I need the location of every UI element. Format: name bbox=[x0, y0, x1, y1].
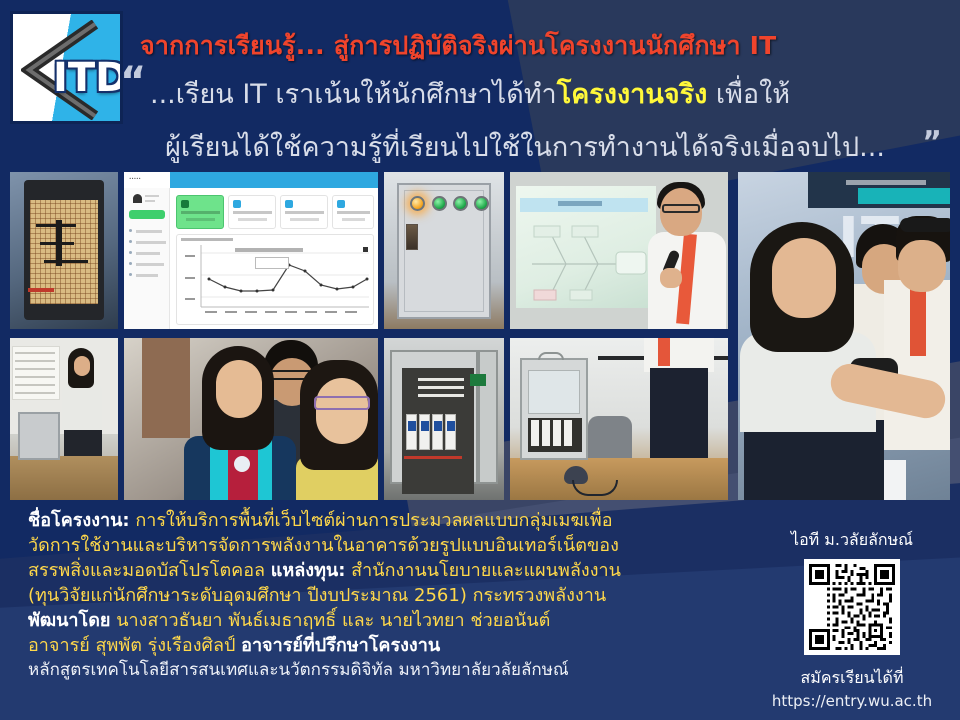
photo-cabinet-desk bbox=[510, 338, 728, 500]
caption-label-developers: พัฒนาโดย bbox=[28, 610, 110, 631]
quote-open-mark: “ bbox=[120, 62, 146, 102]
photo-presenter bbox=[510, 172, 728, 329]
caption-fund-name: สำนักงานนโยบายและแผนพลังงาน bbox=[351, 560, 621, 581]
photo-team-selfie bbox=[124, 338, 378, 500]
quote-line-2: ผู้เรียนได้ใช้ความรู้ที่เรียนไปใช้ในการท… bbox=[95, 125, 955, 168]
poster-header: ITD จากการเรียนรู้... สู่การปฏิบัติจริงผ… bbox=[0, 0, 960, 172]
caption-label-fund: แหล่งทุน: bbox=[271, 560, 346, 581]
qr-url[interactable]: https://entry.wu.ac.th bbox=[766, 692, 938, 710]
caption-label-project: ชื่อโครงงาน: bbox=[28, 510, 130, 531]
caption-project-name-part3: สรรพสิ่งและมอดบัสโปรโตคอล bbox=[28, 560, 265, 581]
project-caption: ชื่อโครงงาน: การให้บริการพื้นที่เว็บไซต์… bbox=[28, 508, 728, 683]
quote-line-1-after: เพื่อให้ bbox=[707, 79, 790, 110]
qr-subtitle: สมัครเรียนได้ที่ bbox=[766, 666, 938, 691]
caption-line-2: วัดการใช้งานและบริหารจัดการพลังงานในอาคา… bbox=[28, 533, 728, 558]
itd-logo-text: ITD bbox=[53, 55, 123, 101]
qr-code[interactable] bbox=[804, 559, 900, 655]
caption-advisor-role: อาจารย์ที่ปรึกษาโครงงาน bbox=[241, 635, 440, 656]
caption-line-4: (ทุนวิจัยแก่นักศึกษาระดับอุดมศึกษา ปีงบป… bbox=[28, 583, 728, 608]
caption-developer-names: นางสาวธันยา พันธ์เมธาฤทธิ์ และ นายไวทยา … bbox=[116, 610, 550, 631]
quote-close-mark: ” bbox=[922, 128, 942, 158]
photo-control-panel bbox=[384, 172, 504, 329]
photo-student-presenting bbox=[10, 338, 118, 500]
qr-block: ไอที ม.วลัยลักษณ์ bbox=[766, 528, 938, 710]
itd-logo: ITD bbox=[10, 11, 123, 124]
qr-code-image bbox=[809, 564, 895, 650]
dashboard-line-chart bbox=[177, 235, 375, 323]
caption-advisor-name: อาจารย์ สุพพัต รุ่งเรืองศิลป์ bbox=[28, 635, 235, 656]
caption-line-6: อาจารย์ สุพพัต รุ่งเรืองศิลป์ อาจารย์ที่… bbox=[28, 633, 728, 658]
page-title: จากการเรียนรู้... สู่การปฏิบัติจริงผ่านโ… bbox=[140, 26, 940, 66]
caption-line-3: สรรพสิ่งและมอดบัสโปรโตคอล แหล่งทุน: สำนั… bbox=[28, 558, 728, 583]
caption-line-7: หลักสูตรเทคโนโลยีสารสนเทศและนวัตกรรมดิจิ… bbox=[28, 658, 728, 683]
caption-line-1: ชื่อโครงงาน: การให้บริการพื้นที่เว็บไซต์… bbox=[28, 508, 728, 533]
photo-dashboard: ••••• bbox=[124, 172, 378, 329]
poster-root: ITD จากการเรียนรู้... สู่การปฏิบัติจริงผ… bbox=[0, 0, 960, 720]
caption-line-5: พัฒนาโดย นางสาวธันยา พันธ์เมธาฤทธิ์ และ … bbox=[28, 608, 728, 633]
qr-title: ไอที ม.วลัยลักษณ์ bbox=[766, 528, 938, 553]
quote-highlight: โครงงานจริง bbox=[557, 79, 708, 110]
photo-cabinet-open bbox=[384, 338, 504, 500]
dashboard-brand: ••••• bbox=[129, 176, 141, 181]
fishbone-diagram-icon bbox=[516, 208, 656, 304]
photo-breadboard bbox=[10, 172, 118, 329]
photo-students-booth: IT DA bbox=[738, 172, 950, 500]
quote-line-1-before: ...เรียน IT เราเน้นให้นักศึกษาได้ทำ bbox=[150, 79, 557, 110]
caption-project-name-part1: การให้บริการพื้นที่เว็บไซต์ผ่านการประมวล… bbox=[135, 510, 612, 531]
photo-gallery: ••••• bbox=[0, 172, 960, 500]
quote-line-1: ...เรียน IT เราเน้นให้นักศึกษาได้ทำโครงง… bbox=[150, 72, 950, 115]
